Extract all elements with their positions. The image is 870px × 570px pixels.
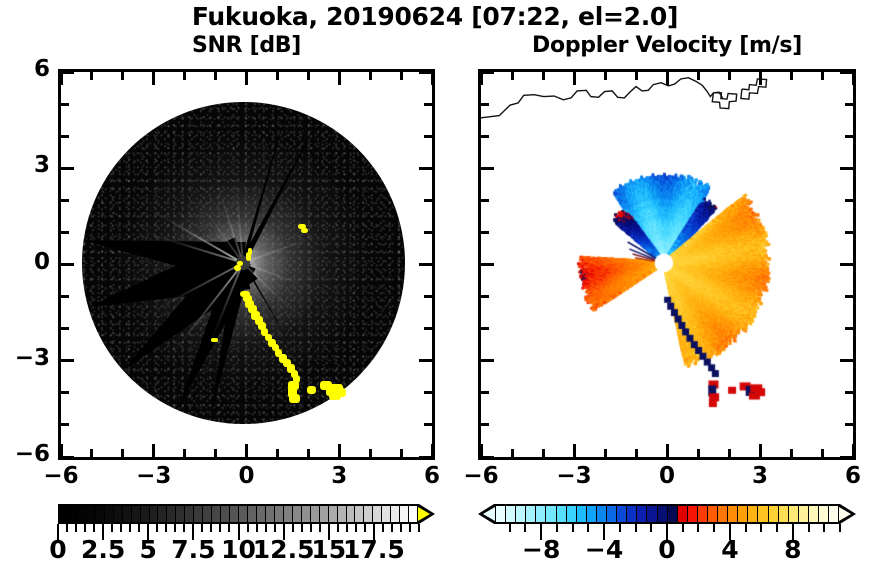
colorbar-cell-25 <box>284 506 293 522</box>
colorbar-tick <box>400 524 402 532</box>
xtick-top-snr--2 <box>183 72 186 80</box>
snr-colorbar-ticks <box>58 524 435 534</box>
ytick-right-dop-5 <box>845 103 853 106</box>
ytick-right-dop--1 <box>845 295 853 298</box>
snr-colorbar-gradient <box>58 504 419 524</box>
colorbar-cell-25 <box>748 506 758 522</box>
colorbar-tick <box>391 524 393 532</box>
xtick-dop--1 <box>635 449 638 457</box>
colorbar-cell-23 <box>266 506 275 522</box>
colorbar-tick <box>265 524 267 532</box>
colorbar-tick <box>156 524 158 532</box>
ytick-dop-5 <box>481 103 489 106</box>
colorbar-cell-14 <box>637 506 647 522</box>
xtick-top-snr-5 <box>400 72 403 80</box>
ytick-label-1: 3 <box>2 152 50 178</box>
colorbar-tick <box>201 524 203 532</box>
xtick-snr--3 <box>152 444 155 457</box>
colorbar-cell-0 <box>60 506 69 522</box>
colorbar-tick <box>556 524 558 532</box>
ytick-right-snr-2 <box>424 199 432 202</box>
ytick-right-dop-6 <box>840 71 853 74</box>
xtick-top-snr-3 <box>338 72 341 85</box>
colorbar-tick <box>183 524 185 532</box>
colorbar-tick <box>165 524 167 532</box>
xtick-top-dop-2 <box>728 72 731 80</box>
ytick-right-snr-4 <box>424 135 432 138</box>
colorbar-cell-35 <box>373 506 382 522</box>
xtick-top-dop-4 <box>790 72 793 80</box>
ytick-dop-4 <box>481 135 489 138</box>
snr-panel-title: SNR [dB] <box>58 33 435 58</box>
colorbar-tick <box>524 524 526 532</box>
ytick-snr--1 <box>61 295 69 298</box>
coastline-path <box>292 93 316 109</box>
colorbar-cell-33 <box>829 506 838 522</box>
xtick-top-dop-0 <box>666 72 669 85</box>
xtick-snr-0 <box>245 444 248 457</box>
colorbar-cell-37 <box>391 506 400 522</box>
xtick-top-snr--6 <box>60 72 63 85</box>
colorbar-cell-1 <box>506 506 516 522</box>
colorbar-tick <box>337 524 339 532</box>
xtick-snr-3 <box>338 444 341 457</box>
ytick-right-dop-3 <box>840 167 853 170</box>
xtick-dop--3 <box>573 444 576 457</box>
xtick-label-dop-0: −6 <box>441 463 521 489</box>
colorbar-cell-31 <box>338 506 347 522</box>
colorbar-tick <box>572 524 574 532</box>
doppler-plot-panel <box>478 69 856 460</box>
xtick-dop-5 <box>821 449 824 457</box>
colorbar-cell-26 <box>293 506 302 522</box>
colorbar-tick <box>382 524 384 532</box>
ytick-snr--2 <box>61 327 69 330</box>
ytick-dop--6 <box>481 456 494 459</box>
colorbar-tick <box>93 524 95 532</box>
ytick-snr--4 <box>61 391 69 394</box>
colorbar-tick <box>210 524 212 532</box>
colorbar-tick <box>301 524 303 532</box>
xtick-top-snr-1 <box>276 72 279 80</box>
colorbar-tick <box>274 524 276 532</box>
ytick-right-snr-3 <box>419 167 432 170</box>
colorbar-tick <box>650 524 652 532</box>
ytick-right-dop--3 <box>840 359 853 362</box>
colorbar-cell-32 <box>819 506 829 522</box>
xtick-top-snr--3 <box>152 72 155 85</box>
colorbar-tick <box>808 524 810 532</box>
colorbar-tick <box>111 524 113 532</box>
ytick-snr--3 <box>61 359 74 362</box>
colorbar-cell-10 <box>597 506 607 522</box>
coastline-overlay-doppler <box>481 72 853 457</box>
ytick-right-snr--1 <box>424 295 432 298</box>
colorbar-tick <box>292 524 294 532</box>
colorbar-cell-22 <box>257 506 266 522</box>
ytick-snr--5 <box>61 423 69 426</box>
xtick-dop--4 <box>542 449 545 457</box>
xtick-top-dop--3 <box>573 72 576 85</box>
ytick-dop--4 <box>481 391 489 394</box>
colorbar-cell-28 <box>779 506 789 522</box>
colorbar-cell-30 <box>799 506 809 522</box>
colorbar-cell-16 <box>203 506 212 522</box>
coastline-overlay <box>61 72 432 457</box>
colorbar-cell-7 <box>123 506 132 522</box>
ytick-right-dop-0 <box>840 263 853 266</box>
colorbar-tick <box>697 524 699 532</box>
colorbar-cell-27 <box>769 506 779 522</box>
coastline-path <box>481 78 723 118</box>
xtick-top-snr--4 <box>121 72 124 80</box>
ytick-label-4: −6 <box>2 441 50 467</box>
colorbar-tick <box>346 524 348 532</box>
ytick-right-dop--2 <box>845 327 853 330</box>
colorbar-cell-20 <box>698 506 708 522</box>
ytick-right-dop--4 <box>845 391 853 394</box>
ytick-snr-4 <box>61 135 69 138</box>
colorbar-cell-2 <box>78 506 87 522</box>
colorbar-cell-8 <box>132 506 141 522</box>
colorbar-cell-11 <box>607 506 617 522</box>
colorbar-cell-9 <box>141 506 150 522</box>
colorbar-over-fill <box>839 507 851 521</box>
xtick-dop--5 <box>511 449 514 457</box>
xtick-top-snr--5 <box>90 72 93 80</box>
colorbar-cell-15 <box>194 506 203 522</box>
ytick-right-snr-1 <box>424 231 432 234</box>
colorbar-cell-7 <box>567 506 577 522</box>
colorbar-tick <box>760 524 762 532</box>
colorbar-tick <box>776 524 778 532</box>
ytick-right-dop--5 <box>845 423 853 426</box>
xtick-snr-1 <box>276 449 279 457</box>
colorbar-cell-19 <box>688 506 698 522</box>
xtick-label-dop-2: 0 <box>627 463 707 489</box>
colorbar-cell-22 <box>718 506 728 522</box>
colorbar-cell-11 <box>158 506 167 522</box>
xtick-dop-6 <box>852 444 855 457</box>
ytick-snr-1 <box>61 231 69 234</box>
colorbar-cell-31 <box>809 506 819 522</box>
ytick-snr-6 <box>61 71 74 74</box>
xtick-top-snr-0 <box>245 72 248 85</box>
xtick-snr-2 <box>307 449 310 457</box>
colorbar-label-7: 17.5 <box>314 535 434 564</box>
colorbar-cell-5 <box>546 506 556 522</box>
xtick-snr--1 <box>214 449 217 457</box>
colorbar-cell-33 <box>355 506 364 522</box>
colorbar-tick <box>682 524 684 532</box>
colorbar-tick <box>823 524 825 532</box>
colorbar-tick <box>84 524 86 532</box>
colorbar-tick <box>713 524 715 532</box>
ytick-right-snr--5 <box>424 423 432 426</box>
colorbar-cell-14 <box>185 506 194 522</box>
colorbar-cell-34 <box>364 506 373 522</box>
xtick-snr--2 <box>183 449 186 457</box>
xtick-top-dop--6 <box>480 72 483 85</box>
ytick-snr-3 <box>61 167 74 170</box>
colorbar-cell-12 <box>617 506 627 522</box>
page-title: Fukuoka, 20190624 [07:22, el=2.0] <box>0 2 870 31</box>
xtick-top-dop--4 <box>542 72 545 80</box>
colorbar-cell-13 <box>176 506 185 522</box>
colorbar-cell-8 <box>577 506 587 522</box>
xtick-snr-4 <box>369 449 372 457</box>
colorbar-cell-2 <box>516 506 526 522</box>
colorbar-label-4: 8 <box>733 535 853 564</box>
colorbar-cell-6 <box>557 506 567 522</box>
colorbar-tick <box>228 524 230 532</box>
ytick-label-2: 0 <box>2 249 50 275</box>
ytick-right-snr-5 <box>424 103 432 106</box>
colorbar-cell-17 <box>668 506 678 522</box>
ytick-right-dop-2 <box>845 199 853 202</box>
ytick-right-snr--2 <box>424 327 432 330</box>
colorbar-tick <box>247 524 249 532</box>
colorbar-cell-32 <box>347 506 356 522</box>
coastline-path <box>741 79 767 99</box>
colorbar-cell-0 <box>496 506 506 522</box>
ytick-dop--5 <box>481 423 489 426</box>
coastline-path <box>712 93 736 109</box>
colorbar-tick <box>418 524 420 532</box>
xtick-top-dop-1 <box>697 72 700 80</box>
xtick-top-snr--1 <box>214 72 217 80</box>
colorbar-cell-13 <box>627 506 637 522</box>
xtick-snr--4 <box>121 449 124 457</box>
colorbar-cell-5 <box>105 506 114 522</box>
ytick-dop-6 <box>481 71 494 74</box>
colorbar-cell-4 <box>536 506 546 522</box>
ytick-dop-3 <box>481 167 494 170</box>
xtick-dop--2 <box>604 449 607 457</box>
ytick-snr-5 <box>61 103 69 106</box>
colorbar-cell-21 <box>708 506 718 522</box>
colorbar-tick <box>587 524 589 532</box>
ytick-dop--2 <box>481 327 489 330</box>
ytick-dop--1 <box>481 295 489 298</box>
colorbar-tick <box>256 524 258 532</box>
colorbar-under-fill <box>483 507 495 521</box>
ytick-dop-0 <box>481 263 494 266</box>
colorbar-tick <box>509 524 511 532</box>
colorbar-cell-23 <box>728 506 738 522</box>
coastline-path <box>320 79 346 99</box>
xtick-label-snr-3: 3 <box>299 463 379 489</box>
colorbar-tick <box>138 524 140 532</box>
xtick-top-snr-4 <box>369 72 372 80</box>
colorbar-cell-18 <box>221 506 230 522</box>
colorbar-tick <box>120 524 122 532</box>
colorbar-over-fill <box>418 507 430 521</box>
colorbar-tick <box>364 524 366 532</box>
colorbar-tick <box>219 524 221 532</box>
colorbar-cell-15 <box>647 506 657 522</box>
colorbar-tick <box>619 524 621 532</box>
colorbar-cell-20 <box>239 506 248 522</box>
xtick-dop-1 <box>697 449 700 457</box>
colorbar-cell-12 <box>167 506 176 522</box>
ytick-right-snr--4 <box>424 391 432 394</box>
snr-colorbar <box>58 504 435 528</box>
xtick-top-snr-2 <box>307 72 310 80</box>
colorbar-cell-6 <box>114 506 123 522</box>
xtick-snr--5 <box>90 449 93 457</box>
ytick-dop-2 <box>481 199 489 202</box>
xtick-top-dop-3 <box>759 72 762 85</box>
ytick-snr--6 <box>61 456 74 459</box>
xtick-top-snr-6 <box>431 72 434 85</box>
colorbar-cell-26 <box>758 506 768 522</box>
xtick-top-dop--5 <box>511 72 514 80</box>
colorbar-cell-18 <box>678 506 688 522</box>
doppler-colorbar-gradient <box>494 504 840 524</box>
colorbar-cell-30 <box>329 506 338 522</box>
xtick-snr-5 <box>400 449 403 457</box>
colorbar-cell-39 <box>409 506 417 522</box>
xtick-dop-3 <box>759 444 762 457</box>
coastline-path <box>61 78 302 118</box>
ytick-label-0: 6 <box>2 56 50 82</box>
colorbar-cell-28 <box>311 506 320 522</box>
ytick-snr-2 <box>61 199 69 202</box>
doppler-colorbar <box>478 504 856 528</box>
colorbar-cell-16 <box>658 506 668 522</box>
colorbar-cell-24 <box>738 506 748 522</box>
colorbar-tick <box>75 524 77 532</box>
ytick-snr-0 <box>61 263 74 266</box>
colorbar-cell-10 <box>150 506 159 522</box>
colorbar-cell-9 <box>587 506 597 522</box>
colorbar-cell-24 <box>275 506 284 522</box>
colorbar-tick <box>635 524 637 532</box>
colorbar-cell-21 <box>248 506 257 522</box>
colorbar-cell-29 <box>789 506 799 522</box>
doppler-panel-title: Doppler Velocity [m/s] <box>478 33 856 58</box>
ytick-right-snr-0 <box>419 263 432 266</box>
xtick-top-dop--2 <box>604 72 607 80</box>
colorbar-tick <box>310 524 312 532</box>
ytick-right-dop-4 <box>845 135 853 138</box>
ytick-right-snr--3 <box>419 359 432 362</box>
colorbar-cell-29 <box>320 506 329 522</box>
xtick-dop-0 <box>666 444 669 457</box>
colorbar-tick <box>174 524 176 532</box>
ytick-dop-1 <box>481 231 489 234</box>
colorbar-cell-17 <box>212 506 221 522</box>
colorbar-tick <box>745 524 747 532</box>
colorbar-tick <box>66 524 68 532</box>
colorbar-cell-36 <box>382 506 391 522</box>
xtick-label-dop-3: 3 <box>720 463 800 489</box>
colorbar-cell-3 <box>526 506 536 522</box>
ytick-right-dop-1 <box>845 231 853 234</box>
ytick-right-snr-6 <box>419 71 432 74</box>
colorbar-tick <box>409 524 411 532</box>
xtick-label-snr-1: −3 <box>114 463 194 489</box>
xtick-label-dop-4: 6 <box>813 463 870 489</box>
colorbar-cell-3 <box>87 506 96 522</box>
radar-figure: Fukuoka, 20190624 [07:22, el=2.0] SNR [d… <box>0 0 870 570</box>
colorbar-cell-1 <box>69 506 78 522</box>
colorbar-cell-4 <box>96 506 105 522</box>
snr-plot-panel <box>58 69 435 460</box>
xtick-label-snr-2: 0 <box>207 463 287 489</box>
xtick-label-dop-1: −3 <box>534 463 614 489</box>
colorbar-tick <box>129 524 131 532</box>
colorbar-cell-27 <box>302 506 311 522</box>
doppler-colorbar-ticks <box>478 524 856 534</box>
ytick-label-3: −3 <box>2 345 50 371</box>
colorbar-cell-38 <box>400 506 409 522</box>
xtick-snr-6 <box>431 444 434 457</box>
xtick-top-dop-6 <box>852 72 855 85</box>
colorbar-tick <box>355 524 357 532</box>
colorbar-tick <box>319 524 321 532</box>
xtick-dop-2 <box>728 449 731 457</box>
xtick-dop-4 <box>790 449 793 457</box>
colorbar-cell-19 <box>230 506 239 522</box>
colorbar-tick <box>839 524 841 532</box>
ytick-dop--3 <box>481 359 494 362</box>
xtick-top-dop--1 <box>635 72 638 80</box>
xtick-top-dop-5 <box>821 72 824 80</box>
